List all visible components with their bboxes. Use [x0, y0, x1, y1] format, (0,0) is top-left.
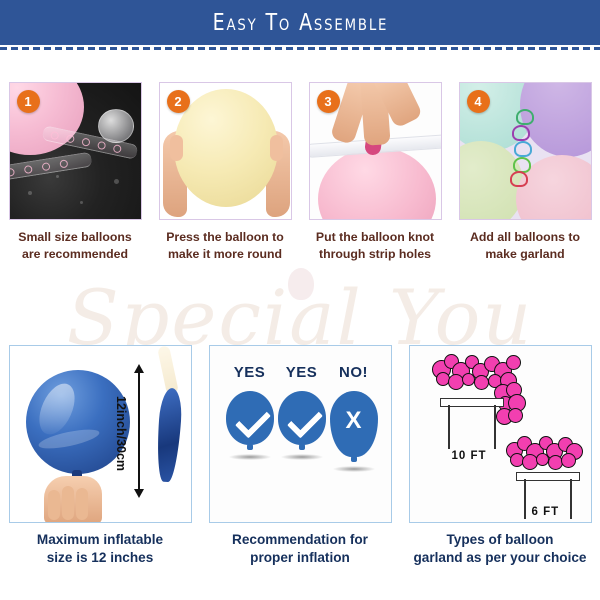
- hand-shape: [44, 476, 102, 523]
- page-title: Easy To Assemble: [212, 10, 388, 36]
- dimension-arrow-icon: [138, 372, 140, 490]
- step-image-3: 3: [309, 82, 442, 220]
- balloon-clip-icon: [510, 171, 528, 187]
- info-panels: 12inch/30cm Maximum inflatablesize is 12…: [0, 345, 600, 600]
- step-badge-3: 3: [317, 90, 340, 113]
- inflation-option-label: NO!: [328, 364, 380, 381]
- balloon-shadow: [281, 454, 323, 460]
- balloon-clip-icon: [516, 109, 534, 125]
- deflated-balloon-neck: [157, 345, 179, 394]
- inflation-option-3: NO! X: [328, 364, 380, 472]
- inflation-option-2: YES: [276, 364, 328, 460]
- balloon-clip-icon: [512, 125, 530, 141]
- step-badge-1: 1: [17, 90, 40, 113]
- step-image-4: 4: [459, 82, 592, 220]
- step-image-2: 2: [159, 82, 292, 220]
- balloon-ok-shape: [226, 391, 274, 445]
- balloon-ok-shape: [278, 391, 326, 445]
- header-dashed-divider: [0, 47, 600, 50]
- check-icon: [286, 402, 322, 438]
- step-badge-2: 2: [167, 90, 190, 113]
- deflated-balloon-shape: [154, 387, 183, 482]
- step-image-1: 1: [9, 82, 142, 220]
- watermark-balloon-icon: [288, 268, 314, 300]
- panel-item-garland: 10 FT 6 FT Ty: [400, 345, 600, 600]
- panel-caption-size: Maximum inflatablesize is 12 inches: [2, 531, 198, 566]
- step-caption-4: Add all balloons tomake garland: [454, 229, 596, 262]
- step-item-2: 2 Press the balloon tomake it more round: [150, 82, 300, 272]
- panel-image-garland: 10 FT 6 FT: [409, 345, 592, 523]
- step-item-1: 1 Small size balloonsare recommended: [0, 82, 150, 272]
- check-icon: [234, 402, 270, 438]
- step-badge-4: 4: [467, 90, 490, 113]
- inflation-option-label: YES: [224, 364, 276, 381]
- panel-caption-inflation: Recommendation forproper inflation: [202, 531, 398, 566]
- step-caption-2: Press the balloon tomake it more round: [154, 229, 296, 262]
- panel-item-inflation: YES YES NO! X Recommenda: [200, 345, 400, 600]
- garland-length-label-10ft: 10 FT: [452, 450, 487, 462]
- cross-icon: X: [330, 409, 378, 433]
- dimension-label: 12inch/30cm: [114, 396, 128, 471]
- balloon-clip-icon: [514, 141, 532, 157]
- balloon-bad-shape: X: [330, 391, 378, 457]
- inflation-option-1: YES: [224, 364, 276, 460]
- pink-balloon-shape: [318, 147, 436, 220]
- step-item-3: 3 Put the balloon knotthrough strip hole…: [300, 82, 450, 272]
- panel-item-size: 12inch/30cm Maximum inflatablesize is 12…: [0, 345, 200, 600]
- inflation-option-label: YES: [276, 364, 328, 381]
- balloon-shadow: [333, 466, 375, 472]
- balloon-shadow: [229, 454, 271, 460]
- step-caption-1: Small size balloonsare recommended: [4, 229, 146, 262]
- page-header: Easy To Assemble: [0, 0, 600, 45]
- step-caption-3: Put the balloon knotthrough strip holes: [304, 229, 446, 262]
- assembly-steps: 1 Small size balloonsare recommended 2 P…: [0, 82, 600, 272]
- step-item-4: 4 Add all balloons tomake garland: [450, 82, 600, 272]
- balloon-strip-tape: [9, 152, 93, 182]
- panel-image-size: 12inch/30cm: [9, 345, 192, 523]
- panel-caption-garland: Types of balloongarland as per your choi…: [402, 531, 598, 566]
- garland-length-label-6ft: 6 FT: [532, 506, 560, 518]
- panel-image-inflation: YES YES NO! X: [209, 345, 392, 523]
- cream-balloon-shape: [174, 89, 278, 207]
